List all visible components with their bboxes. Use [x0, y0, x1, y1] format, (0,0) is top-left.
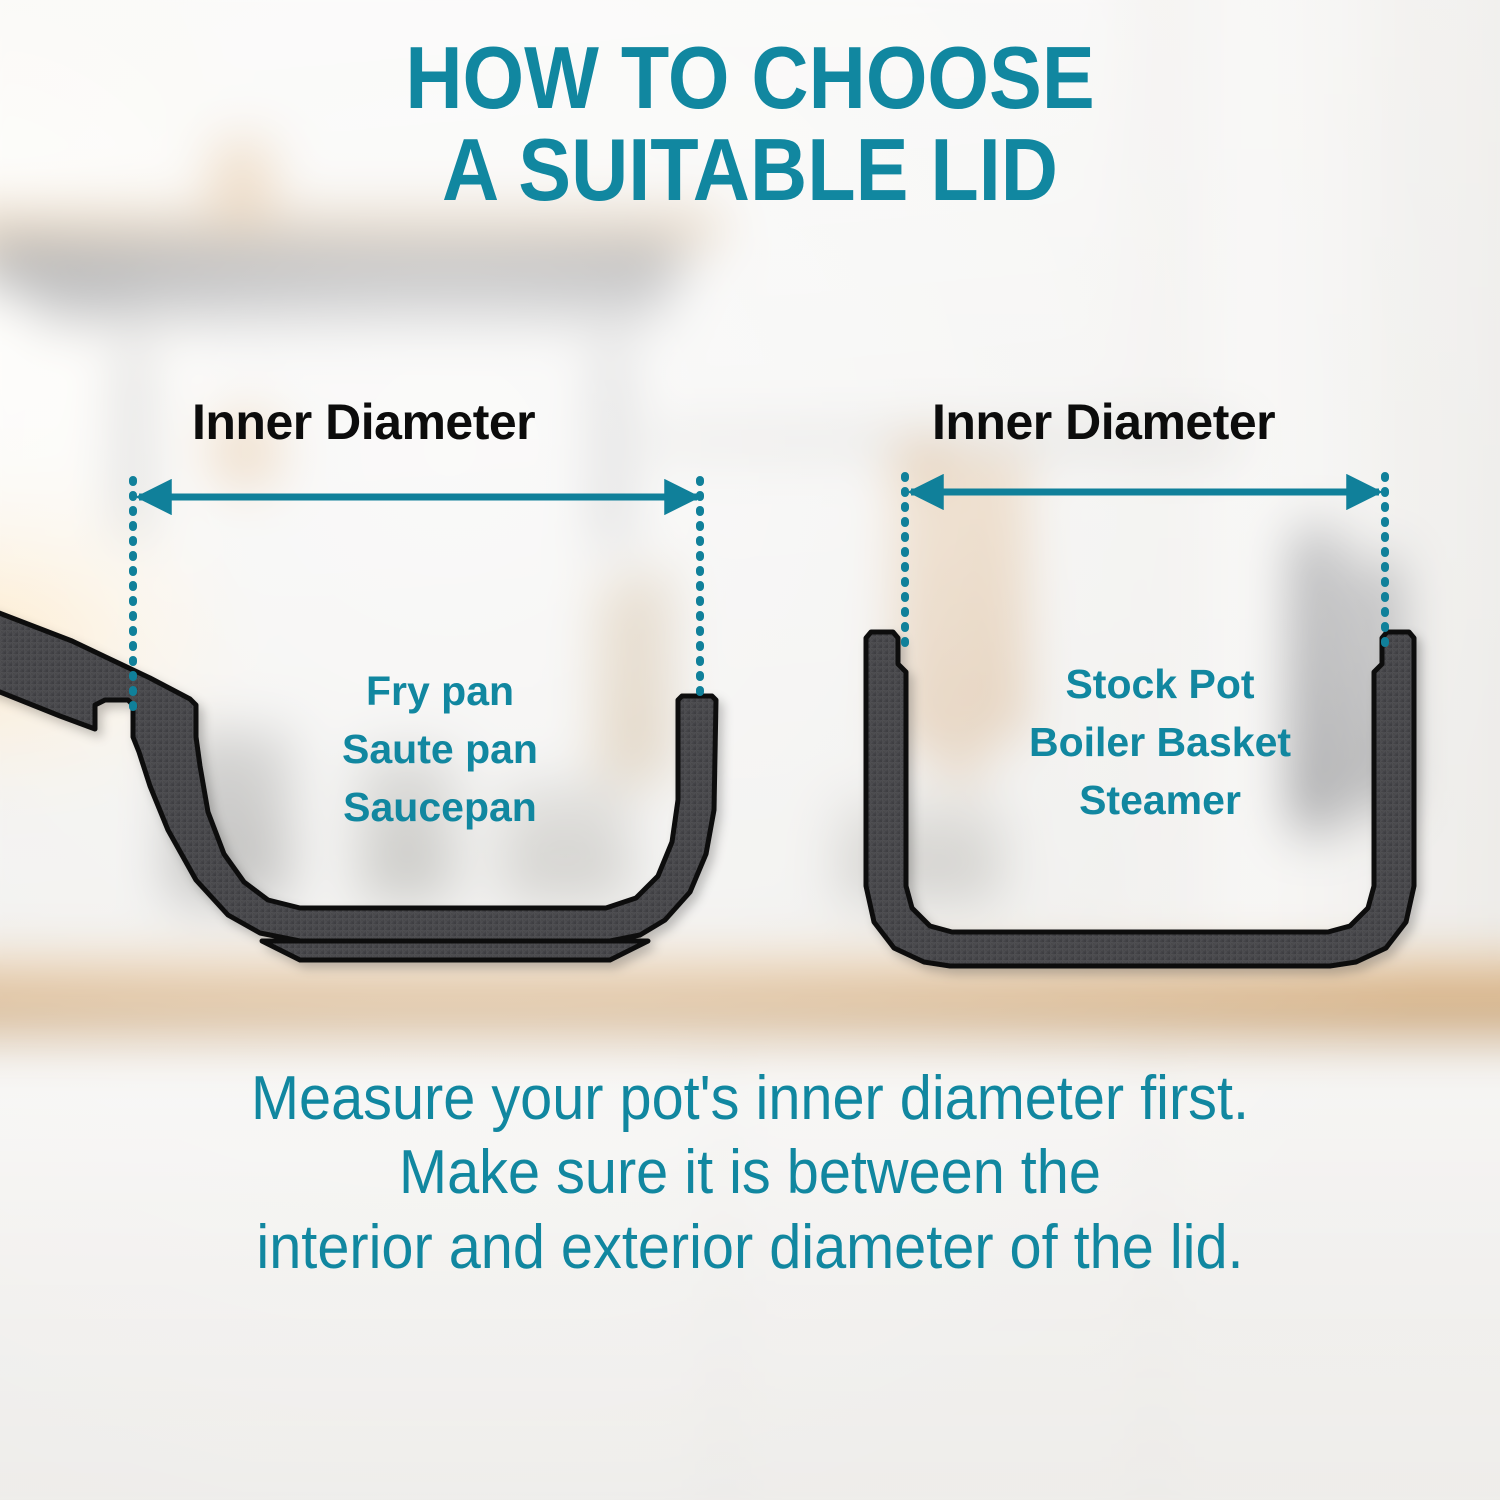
- infographic-canvas: HOW TO CHOOSE A SUITABLE LID: [0, 0, 1500, 1500]
- right-pot-type-labels: Stock Pot Boiler Basket Steamer: [985, 655, 1335, 830]
- instruction-text: Measure your pot's inner diameter first.…: [164, 1062, 1336, 1285]
- inner-diameter-label-left: Inner Diameter: [192, 393, 535, 451]
- inner-diameter-label-right: Inner Diameter: [932, 393, 1275, 451]
- left-pot-type-labels: Fry pan Saute pan Saucepan: [275, 662, 605, 837]
